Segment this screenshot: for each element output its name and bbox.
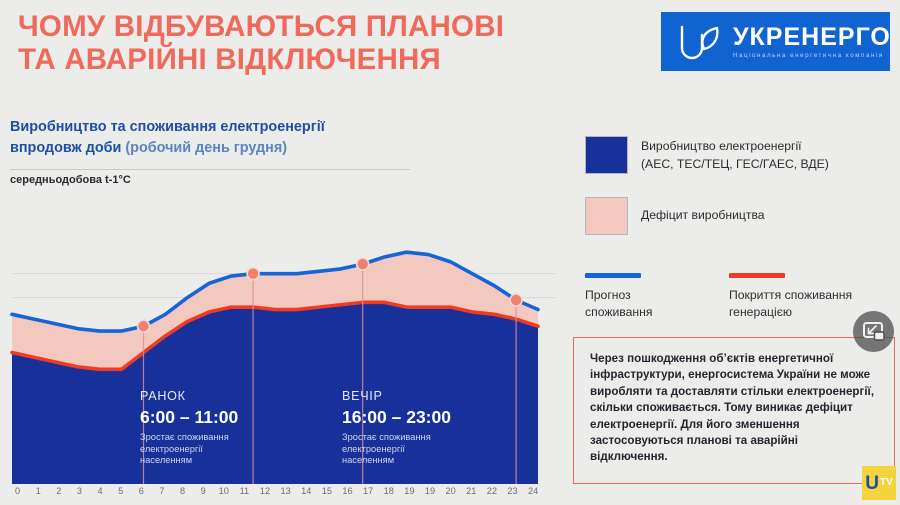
temperature-note: середньодобова t-1°C [10,174,131,186]
x-tick: 23 [507,484,518,500]
chart-title: Виробництво та споживання електроенергії… [10,117,410,159]
headline-line-1: ЧОМУ ВІДБУВАЮТЬСЯ ПЛАНОВІ [18,10,504,43]
annotation-morning: РАНОК 6:00 – 11:00 Зростає споживанняеле… [140,388,238,467]
x-tick: 21 [466,484,477,500]
chart-title-line-1: Виробництво та споживання електроенергії [10,119,325,135]
x-tick: 11 [239,484,250,500]
x-tick: 18 [383,484,394,500]
annotation-morning-description: Зростає споживанняелектроенергіїнаселенн… [140,432,238,467]
x-tick: 19 [425,484,436,500]
marker-dot[interactable] [510,294,522,306]
x-tick: 15 [321,484,332,500]
watermark-tv: TV [880,477,893,489]
slide-root: ЧОМУ ВІДБУВАЮТЬСЯ ПЛАНОВІ ТА АВАРІЙНІ ВІ… [0,0,900,505]
forecast-line-swatch [585,273,641,278]
x-tick: 3 [74,484,85,500]
chart-title-qualifier: (робочий день грудня) [125,140,287,156]
callout-box: Через пошкодження об’єктів енергетичної … [573,337,895,484]
x-tick: 8 [177,484,188,500]
line-key-forecast-label: Прогнозспоживання [585,287,715,321]
x-tick: 19 [404,484,415,500]
chart-x-axis: 0123456789101112131415161718191920212223… [12,484,539,500]
x-tick: 24 [528,484,539,500]
x-tick: 5 [115,484,126,500]
annotation-morning-range: 6:00 – 11:00 [140,405,238,429]
logo-subtitle: Національна енергетична компанія [733,51,891,60]
page-title: ЧОМУ ВІДБУВАЮТЬСЯ ПЛАНОВІ ТА АВАРІЙНІ ВІ… [18,10,648,76]
x-tick: 9 [198,484,209,500]
callout-text: Через пошкодження об’єктів енергетичної … [590,351,878,466]
legend-label-production: Виробництво електроенергії(АЕС, ТЕС/ТЕЦ,… [641,138,891,173]
x-tick: 1 [33,484,44,500]
x-tick: 20 [445,484,456,500]
ukrenergo-leaf-icon [677,22,723,62]
marker-dot[interactable] [247,268,259,280]
annotation-evening-description: Зростає споживанняелектроенергіїнаселенн… [342,432,451,467]
x-tick: 17 [363,484,374,500]
x-tick: 10 [218,484,229,500]
chart-title-line-2: впродовж доби [10,140,121,156]
headline-line-2: ТА АВАРІЙНІ ВІДКЛЮЧЕННЯ [18,43,648,76]
x-tick: 6 [136,484,147,500]
coverage-line-swatch [729,273,785,278]
ukrenergo-logo: УКРЕНЕРГО Національна енергетична компан… [661,12,890,71]
marker-dot[interactable] [357,258,369,270]
chart-plot [0,190,556,480]
legend-swatch-deficit [585,197,628,235]
x-tick: 4 [95,484,106,500]
x-tick: 13 [280,484,291,500]
annotation-evening-label: ВЕЧІР [342,388,451,404]
chart-svg [0,190,556,485]
x-tick: 16 [342,484,353,500]
x-tick: 12 [260,484,271,500]
x-tick: 22 [486,484,497,500]
annotation-evening-range: 16:00 – 23:00 [342,405,451,429]
divider [10,169,410,170]
logo-text-group: УКРЕНЕРГО Національна енергетична компан… [733,24,891,60]
x-tick: 0 [12,484,23,500]
legend-swatch-production [585,136,628,174]
x-tick: 14 [301,484,312,500]
marker-dot[interactable] [138,320,150,332]
x-tick: 2 [53,484,64,500]
annotation-morning-label: РАНОК [140,388,238,404]
annotation-evening: ВЕЧІР 16:00 – 23:00 Зростає споживанняел… [342,388,451,467]
utv-watermark: U TV [862,466,896,500]
logo-name: УКРЕНЕРГО [733,24,891,50]
picture-in-picture-icon [863,322,885,342]
legend-label-deficit: Дефіцит виробництва [641,207,891,225]
line-key-forecast: Прогнозспоживання [585,273,715,321]
watermark-u: U [865,474,879,493]
picture-in-picture-button[interactable] [853,311,894,352]
x-tick: 7 [156,484,167,500]
